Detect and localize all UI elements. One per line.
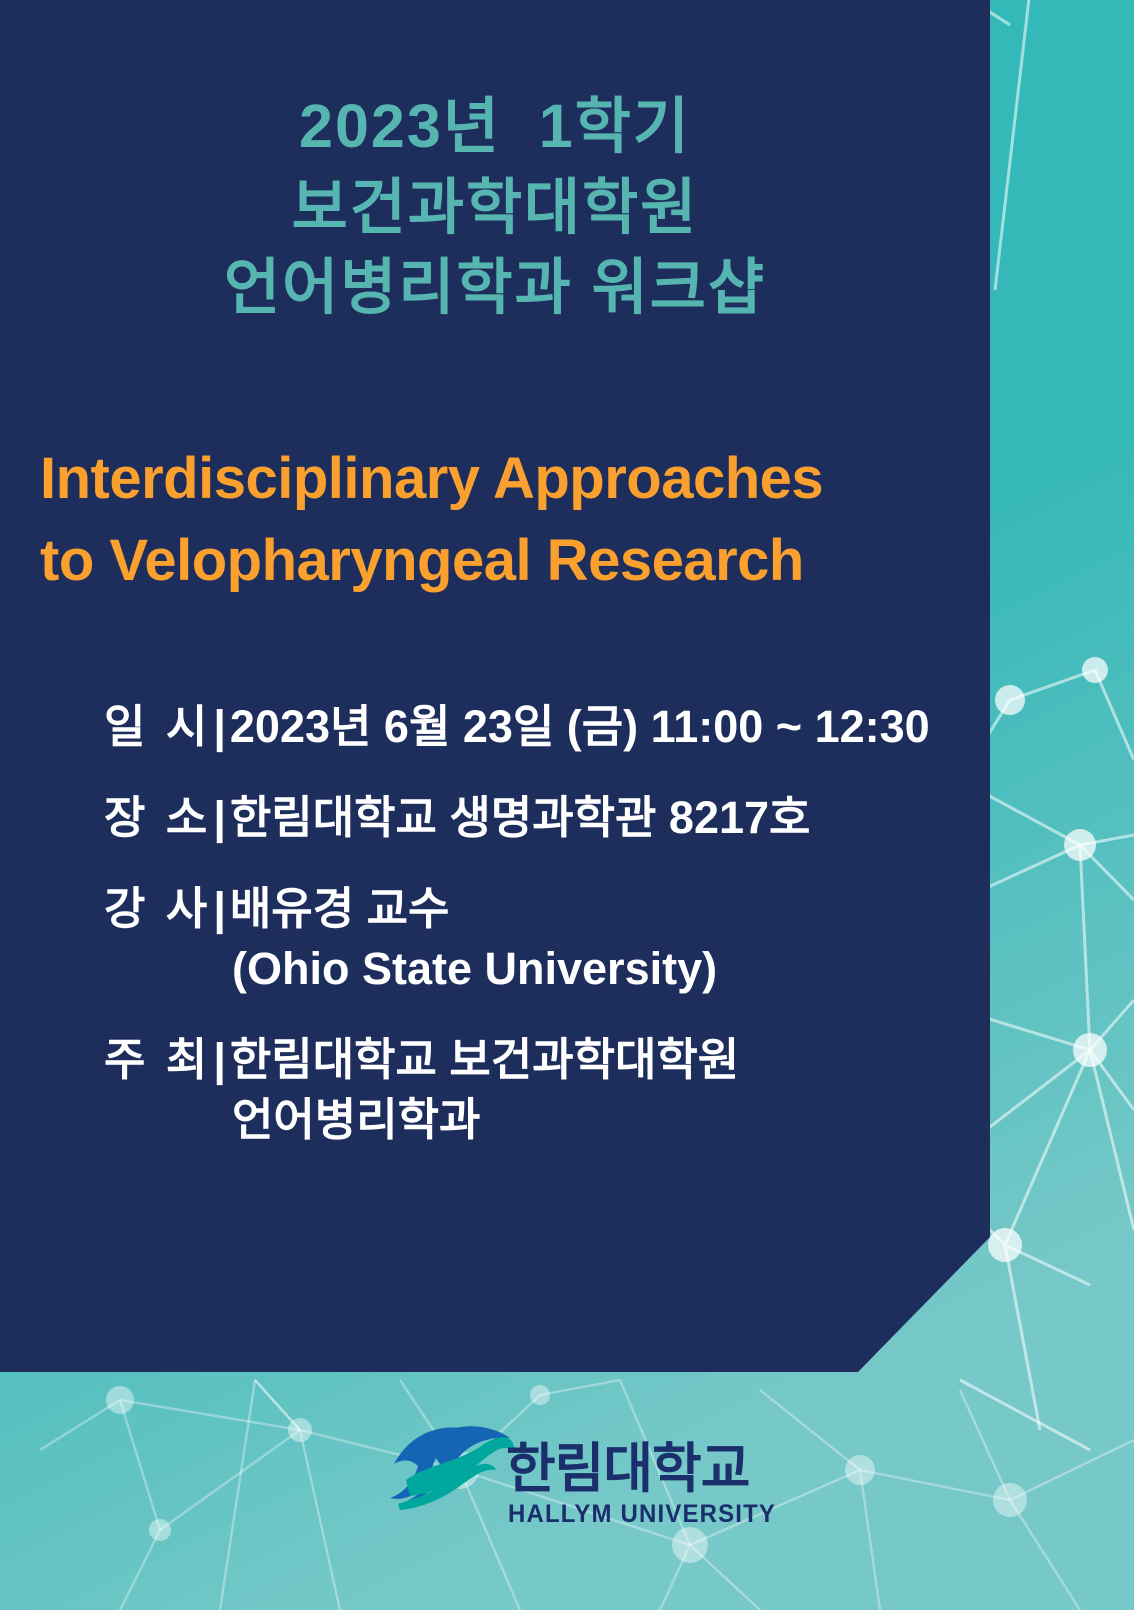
logo-korean-name: 한림대학교 [506, 1442, 749, 1496]
detail-row-location: 장 소|한림대학교 생명과학관 8217호 [104, 791, 964, 844]
detail-sub-host-department: 언어병리학과 [104, 1086, 964, 1154]
subtitle-line-2: to Velopharyngeal Research [40, 520, 940, 602]
detail-separator-speaker: | [211, 883, 230, 934]
detail-row-datetime: 일 시|2023년 6월 23일 (금) 11:00 ~ 12:30 [104, 700, 964, 753]
workshop-poster: 2023년 1학기 보건과학대학원 언어병리학과 워크샵 Interdiscip… [0, 0, 1134, 1610]
subtitle-line-1: Interdisciplinary Approaches [40, 438, 940, 520]
detail-value-location: 한림대학교 생명과학관 8217호 [230, 792, 811, 843]
detail-label-host: 주 최 [104, 1034, 211, 1085]
detail-label-speaker: 강 사 [104, 883, 211, 934]
detail-main-datetime: 일 시|2023년 6월 23일 (금) 11:00 ~ 12:30 [104, 700, 964, 753]
detail-sub-speaker-affiliation: (Ohio State University) [104, 935, 964, 1003]
detail-label-location: 장 소 [104, 792, 211, 843]
detail-separator-host: | [211, 1034, 230, 1085]
detail-value-speaker: 배유경 교수 [230, 883, 450, 934]
logo-english-name: HALLYM UNIVERSITY [508, 1502, 776, 1527]
detail-row-host: 주 최|한림대학교 보건과학대학원 언어병리학과 [104, 1033, 964, 1154]
hallym-wave-mark-icon [388, 1418, 518, 1514]
detail-main-speaker: 강 사|배유경 교수 [104, 882, 964, 935]
poster-content: 2023년 1학기 보건과학대학원 언어병리학과 워크샵 Interdiscip… [0, 0, 990, 1372]
detail-main-location: 장 소|한림대학교 생명과학관 8217호 [104, 791, 964, 844]
page-title: 2023년 1학기 보건과학대학원 언어병리학과 워크샵 [0, 86, 990, 328]
detail-label-datetime: 일 시 [104, 701, 211, 752]
detail-separator-location: | [211, 792, 230, 843]
detail-row-speaker: 강 사|배유경 교수 (Ohio State University) [104, 882, 964, 1003]
headline-line-1: 2023년 1학기 [0, 86, 990, 167]
headline-line-2: 보건과학대학원 [0, 167, 990, 248]
headline-line-3: 언어병리학과 워크샵 [0, 247, 990, 328]
workshop-subtitle: Interdisciplinary Approaches to Velophar… [40, 438, 940, 603]
detail-main-host: 주 최|한림대학교 보건과학대학원 [104, 1033, 964, 1086]
detail-separator-datetime: | [211, 701, 230, 752]
detail-value-datetime: 2023년 6월 23일 (금) 11:00 ~ 12:30 [230, 701, 930, 752]
detail-value-host: 한림대학교 보건과학대학원 [230, 1034, 739, 1085]
hallym-university-logo: 한림대학교 HALLYM UNIVERSITY [388, 1412, 768, 1562]
event-details-list: 일 시|2023년 6월 23일 (금) 11:00 ~ 12:30 장 소|한… [104, 700, 964, 1183]
